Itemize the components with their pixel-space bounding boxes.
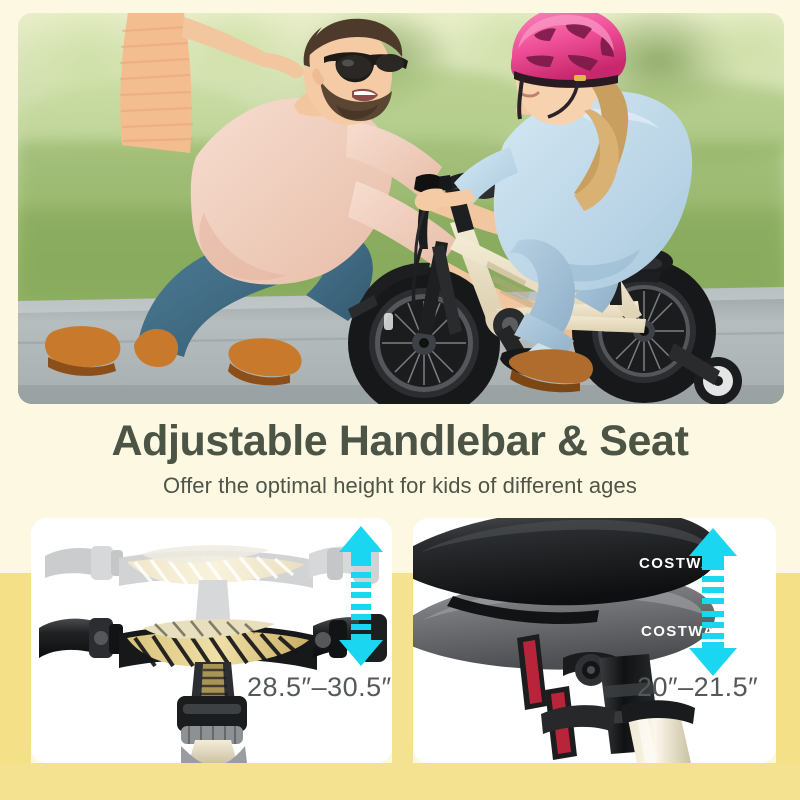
handlebar-illustration	[31, 518, 392, 763]
gold-band-right	[776, 573, 800, 763]
svg-text:®: ®	[729, 621, 735, 630]
page-subtitle: Offer the optimal height for kids of dif…	[0, 464, 800, 498]
title-block: Adjustable Handlebar & Seat Offer the op…	[0, 404, 800, 514]
product-feature-card: Adjustable Handlebar & Seat Offer the op…	[0, 0, 800, 800]
hero-photo-illustration	[18, 13, 784, 404]
seat-adjust-panel: COSTWAY ® COSTWAY ®	[413, 518, 776, 763]
page-title: Adjustable Handlebar & Seat	[0, 404, 800, 464]
gold-band-center	[392, 573, 413, 763]
handlebar-measurement-label: 28.5″–30.5″	[247, 672, 392, 703]
gold-band-bottom	[0, 763, 800, 800]
gold-band-left	[0, 573, 31, 763]
seat-illustration: COSTWAY ® COSTWAY ®	[413, 518, 776, 763]
seat-measurement-label: 20″–21.5″	[637, 672, 758, 703]
handlebar-adjust-panel	[31, 518, 392, 763]
hero-photo	[18, 13, 784, 404]
